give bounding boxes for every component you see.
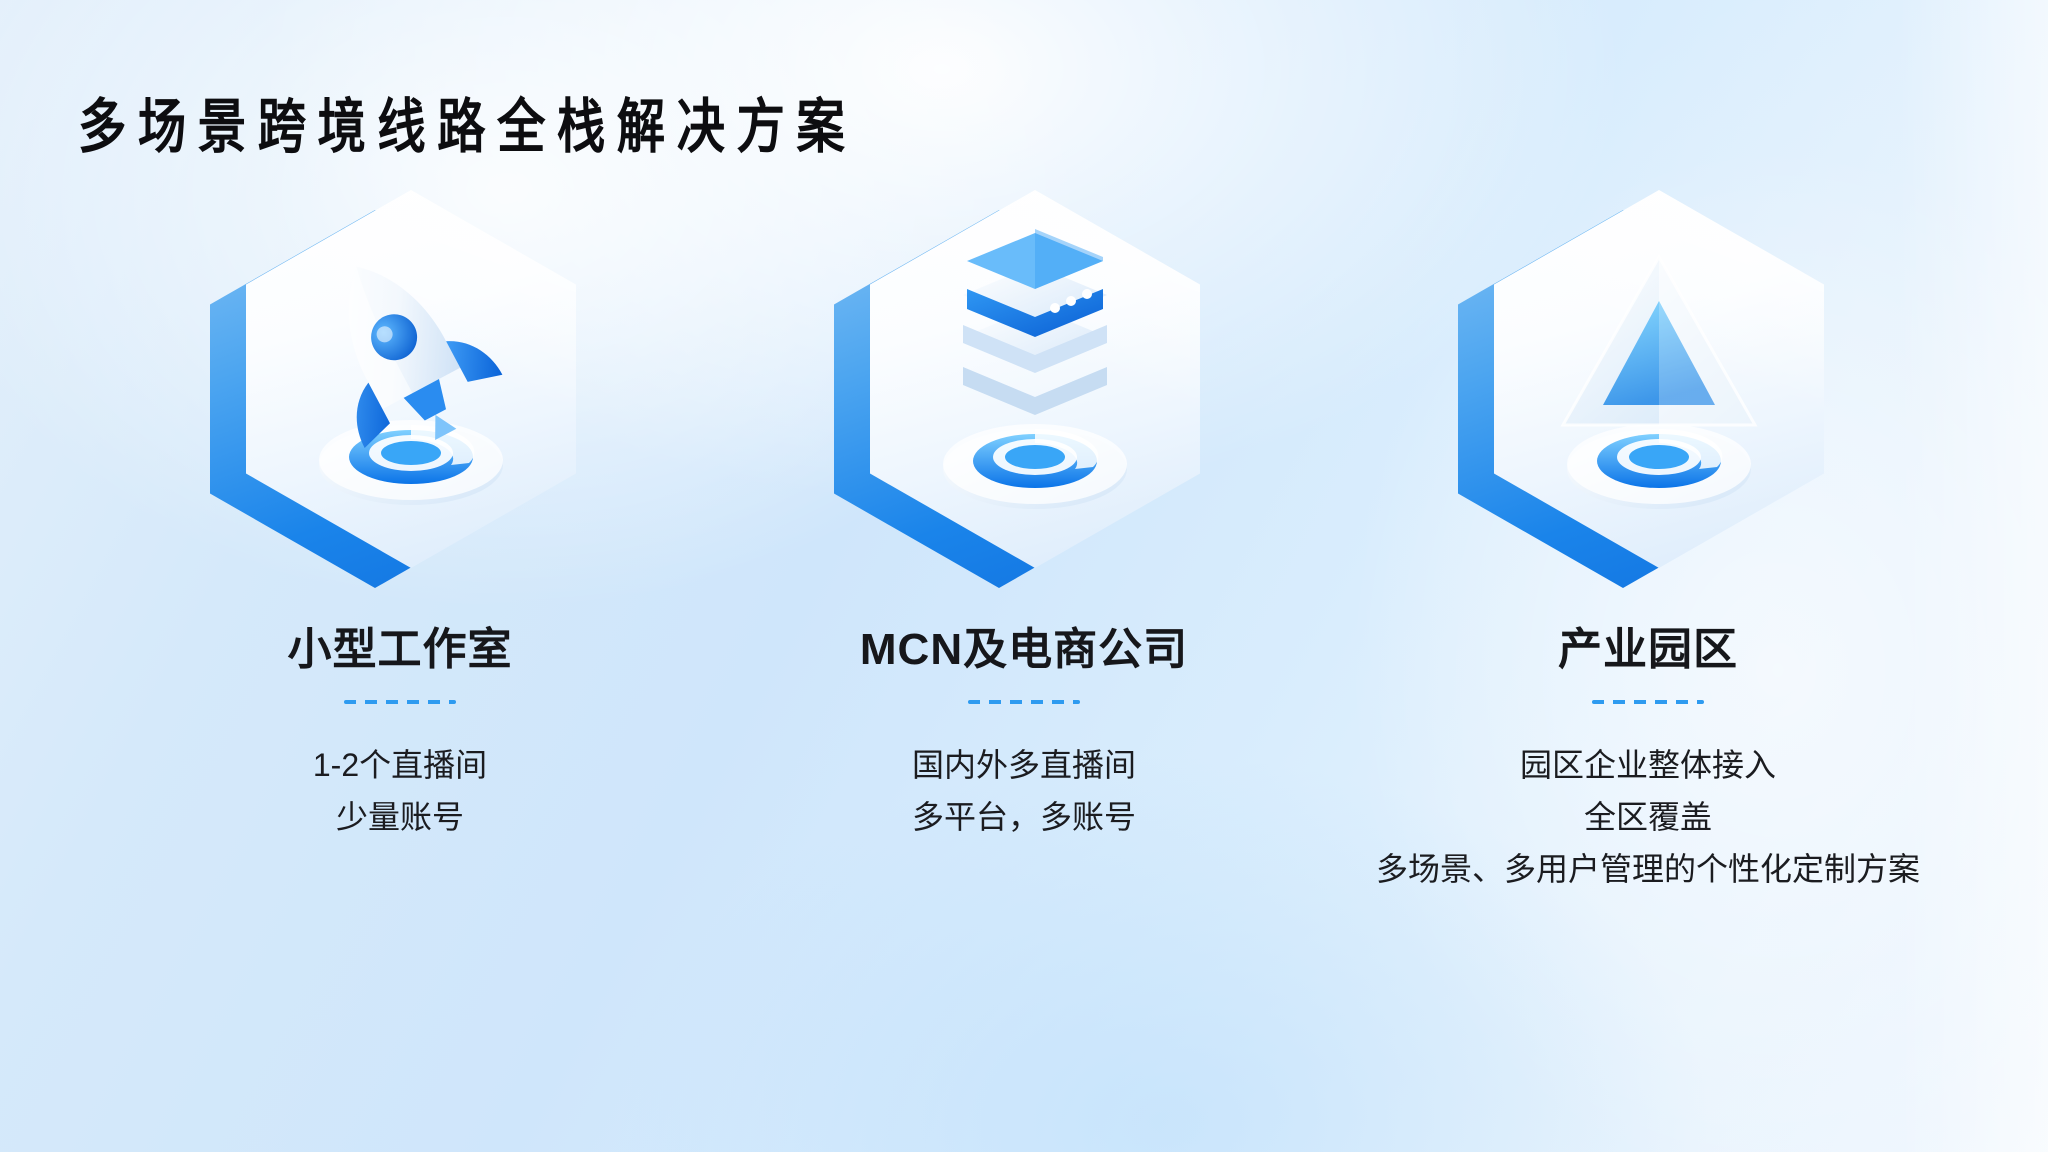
card-body-line: 1-2个直播间 [313,740,487,792]
cards-row: 小型工作室 1-2个直播间 少量账号 [0,190,2048,896]
card-divider [968,700,1080,704]
hexagon-badge [834,190,1214,590]
card-body-line: 园区企业整体接入 [1376,740,1920,792]
card-body: 园区企业整体接入 全区覆盖 多场景、多用户管理的个性化定制方案 [1376,740,1920,895]
card-body-line: 全区覆盖 [1376,792,1920,844]
pyramid-hexagon-icon [1494,190,1824,568]
card-body-line: 多平台，多账号 [912,792,1136,844]
card-body-line: 多场景、多用户管理的个性化定制方案 [1376,844,1920,896]
card-body: 国内外多直播间 多平台，多账号 [912,740,1136,844]
card-body: 1-2个直播间 少量账号 [313,740,487,844]
card-title: 产业园区 [1558,626,1738,674]
card-mcn-ecommerce[interactable]: MCN及电商公司 国内外多直播间 多平台，多账号 [744,190,1304,896]
card-divider [1592,700,1704,704]
slide-stage: 多场景跨境线路全栈解决方案 [0,0,2048,1152]
card-title: MCN及电商公司 [860,626,1188,674]
page-title: 多场景跨境线路全栈解决方案 [78,98,856,157]
card-divider [344,700,456,704]
card-industrial-park[interactable]: 产业园区 园区企业整体接入 全区覆盖 多场景、多用户管理的个性化定制方案 [1368,190,1928,896]
hexagon-badge [210,190,590,590]
card-small-studio[interactable]: 小型工作室 1-2个直播间 少量账号 [120,190,680,896]
card-body-line: 国内外多直播间 [912,740,1136,792]
card-title: 小型工作室 [288,626,513,674]
rocket-hexagon-icon [246,190,576,568]
hexagon-badge [1458,190,1838,590]
card-body-line: 少量账号 [313,792,487,844]
server-stack-hexagon-icon [870,190,1200,568]
